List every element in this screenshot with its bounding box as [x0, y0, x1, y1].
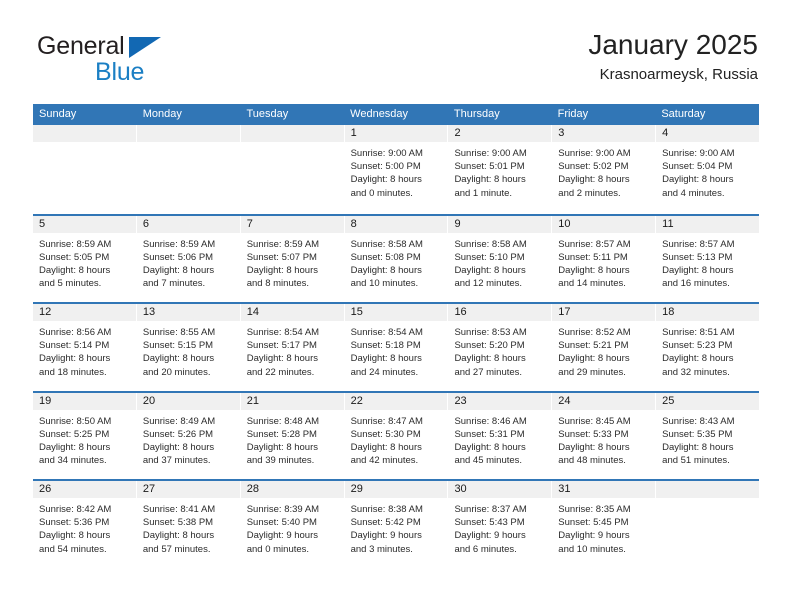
- daylight-text-line2: and 3 minutes.: [351, 543, 442, 556]
- daylight-text-line2: and 10 minutes.: [558, 543, 649, 556]
- day-details: Sunrise: 8:37 AMSunset: 5:43 PMDaylight:…: [448, 498, 551, 556]
- daylight-text-line2: and 2 minutes.: [558, 187, 649, 200]
- calendar-day-cell[interactable]: 23Sunrise: 8:46 AMSunset: 5:31 PMDayligh…: [448, 393, 552, 480]
- daylight-text-line2: and 57 minutes.: [143, 543, 234, 556]
- day-number: 3: [552, 125, 655, 142]
- daylight-text-line1: Daylight: 8 hours: [558, 352, 649, 365]
- weekday-header-wednesday: Wednesday: [344, 104, 448, 125]
- day-details: Sunrise: 8:54 AMSunset: 5:17 PMDaylight:…: [241, 321, 344, 379]
- day-details: Sunrise: 8:50 AMSunset: 5:25 PMDaylight:…: [33, 410, 136, 468]
- daylight-text-line1: Daylight: 8 hours: [558, 173, 649, 186]
- sunrise-text: Sunrise: 8:47 AM: [351, 415, 442, 428]
- sunset-text: Sunset: 5:31 PM: [454, 428, 545, 441]
- calendar-day-cell[interactable]: 27Sunrise: 8:41 AMSunset: 5:38 PMDayligh…: [137, 481, 241, 568]
- daylight-text-line2: and 0 minutes.: [351, 187, 442, 200]
- calendar-day-cell[interactable]: 25Sunrise: 8:43 AMSunset: 5:35 PMDayligh…: [656, 393, 759, 480]
- daylight-text-line2: and 24 minutes.: [351, 366, 442, 379]
- sunrise-text: Sunrise: 8:58 AM: [351, 238, 442, 251]
- daylight-text-line1: Daylight: 8 hours: [454, 352, 545, 365]
- day-details: Sunrise: 8:45 AMSunset: 5:33 PMDaylight:…: [552, 410, 655, 468]
- day-number: 1: [345, 125, 448, 142]
- calendar-day-cell[interactable]: 30Sunrise: 8:37 AMSunset: 5:43 PMDayligh…: [448, 481, 552, 568]
- daylight-text-line1: Daylight: 9 hours: [351, 529, 442, 542]
- calendar-day-cell[interactable]: 4Sunrise: 9:00 AMSunset: 5:04 PMDaylight…: [656, 125, 759, 214]
- sunrise-text: Sunrise: 9:00 AM: [662, 147, 753, 160]
- daylight-text-line2: and 45 minutes.: [454, 454, 545, 467]
- day-number: [656, 481, 759, 498]
- sunset-text: Sunset: 5:26 PM: [143, 428, 234, 441]
- day-details: Sunrise: 8:35 AMSunset: 5:45 PMDaylight:…: [552, 498, 655, 556]
- sunrise-text: Sunrise: 9:00 AM: [351, 147, 442, 160]
- day-number: 28: [241, 481, 344, 498]
- sunrise-text: Sunrise: 8:58 AM: [454, 238, 545, 251]
- sunrise-text: Sunrise: 8:50 AM: [39, 415, 130, 428]
- sunrise-text: Sunrise: 8:57 AM: [558, 238, 649, 251]
- day-number: [33, 125, 136, 142]
- daylight-text-line1: Daylight: 8 hours: [351, 173, 442, 186]
- sunrise-text: Sunrise: 8:59 AM: [247, 238, 338, 251]
- daylight-text-line2: and 22 minutes.: [247, 366, 338, 379]
- calendar-day-cell[interactable]: 31Sunrise: 8:35 AMSunset: 5:45 PMDayligh…: [552, 481, 656, 568]
- day-number: 24: [552, 393, 655, 410]
- daylight-text-line1: Daylight: 8 hours: [558, 264, 649, 277]
- title-block: January 2025 Krasnoarmeysk, Russia: [588, 28, 758, 86]
- calendar-day-cell[interactable]: 3Sunrise: 9:00 AMSunset: 5:02 PMDaylight…: [552, 125, 656, 214]
- calendar-day-cell[interactable]: 8Sunrise: 8:58 AMSunset: 5:08 PMDaylight…: [345, 216, 449, 303]
- day-number: 11: [656, 216, 759, 233]
- page-title: January 2025: [588, 28, 758, 62]
- sunset-text: Sunset: 5:13 PM: [662, 251, 753, 264]
- sunset-text: Sunset: 5:42 PM: [351, 516, 442, 529]
- day-details: Sunrise: 8:59 AMSunset: 5:06 PMDaylight:…: [137, 233, 240, 291]
- day-number: 12: [33, 304, 136, 321]
- sunrise-text: Sunrise: 8:53 AM: [454, 326, 545, 339]
- day-number: 20: [137, 393, 240, 410]
- day-number: 7: [241, 216, 344, 233]
- calendar-day-cell[interactable]: 22Sunrise: 8:47 AMSunset: 5:30 PMDayligh…: [345, 393, 449, 480]
- day-details: Sunrise: 8:39 AMSunset: 5:40 PMDaylight:…: [241, 498, 344, 556]
- sunset-text: Sunset: 5:08 PM: [351, 251, 442, 264]
- day-details: Sunrise: 8:58 AMSunset: 5:08 PMDaylight:…: [345, 233, 448, 291]
- day-number: 13: [137, 304, 240, 321]
- daylight-text-line2: and 51 minutes.: [662, 454, 753, 467]
- day-details: Sunrise: 8:43 AMSunset: 5:35 PMDaylight:…: [656, 410, 759, 468]
- sunrise-text: Sunrise: 9:00 AM: [558, 147, 649, 160]
- day-number: 30: [448, 481, 551, 498]
- sunset-text: Sunset: 5:30 PM: [351, 428, 442, 441]
- sunrise-text: Sunrise: 8:35 AM: [558, 503, 649, 516]
- sunset-text: Sunset: 5:14 PM: [39, 339, 130, 352]
- page-header: General Blue January 2025 Krasnoarmeysk,…: [33, 28, 758, 94]
- sunrise-text: Sunrise: 8:37 AM: [454, 503, 545, 516]
- calendar-week-row: 5Sunrise: 8:59 AMSunset: 5:05 PMDaylight…: [33, 214, 759, 303]
- day-number: 16: [448, 304, 551, 321]
- day-number: 19: [33, 393, 136, 410]
- weekday-header-monday: Monday: [137, 104, 241, 125]
- weekday-header-tuesday: Tuesday: [240, 104, 344, 125]
- sunrise-text: Sunrise: 8:41 AM: [143, 503, 234, 516]
- sunset-text: Sunset: 5:43 PM: [454, 516, 545, 529]
- calendar-day-cell[interactable]: 12Sunrise: 8:56 AMSunset: 5:14 PMDayligh…: [33, 304, 137, 391]
- calendar-day-cell[interactable]: 20Sunrise: 8:49 AMSunset: 5:26 PMDayligh…: [137, 393, 241, 480]
- day-number: 17: [552, 304, 655, 321]
- day-details: Sunrise: 9:00 AMSunset: 5:01 PMDaylight:…: [448, 142, 551, 200]
- calendar-day-cell-empty: [33, 125, 137, 214]
- sunset-text: Sunset: 5:06 PM: [143, 251, 234, 264]
- sunrise-text: Sunrise: 8:56 AM: [39, 326, 130, 339]
- daylight-text-line1: Daylight: 8 hours: [143, 352, 234, 365]
- day-details: Sunrise: 8:52 AMSunset: 5:21 PMDaylight:…: [552, 321, 655, 379]
- calendar-day-cell[interactable]: 6Sunrise: 8:59 AMSunset: 5:06 PMDaylight…: [137, 216, 241, 303]
- sunrise-text: Sunrise: 8:43 AM: [662, 415, 753, 428]
- sunrise-text: Sunrise: 8:42 AM: [39, 503, 130, 516]
- daylight-text-line1: Daylight: 8 hours: [247, 441, 338, 454]
- brand-logo[interactable]: General Blue: [33, 32, 253, 90]
- calendar-page: General Blue January 2025 Krasnoarmeysk,…: [0, 0, 792, 612]
- sunset-text: Sunset: 5:38 PM: [143, 516, 234, 529]
- sunrise-text: Sunrise: 8:55 AM: [143, 326, 234, 339]
- day-details: Sunrise: 9:00 AMSunset: 5:02 PMDaylight:…: [552, 142, 655, 200]
- day-number: 25: [656, 393, 759, 410]
- daylight-text-line2: and 54 minutes.: [39, 543, 130, 556]
- sunset-text: Sunset: 5:25 PM: [39, 428, 130, 441]
- sunset-text: Sunset: 5:21 PM: [558, 339, 649, 352]
- sunset-text: Sunset: 5:17 PM: [247, 339, 338, 352]
- calendar-day-cell[interactable]: 13Sunrise: 8:55 AMSunset: 5:15 PMDayligh…: [137, 304, 241, 391]
- sunset-text: Sunset: 5:23 PM: [662, 339, 753, 352]
- day-details: Sunrise: 9:00 AMSunset: 5:00 PMDaylight:…: [345, 142, 448, 200]
- day-details: Sunrise: 8:54 AMSunset: 5:18 PMDaylight:…: [345, 321, 448, 379]
- calendar-week-row: 26Sunrise: 8:42 AMSunset: 5:36 PMDayligh…: [33, 479, 759, 568]
- daylight-text-line2: and 12 minutes.: [454, 277, 545, 290]
- page-subtitle: Krasnoarmeysk, Russia: [588, 64, 758, 86]
- daylight-text-line1: Daylight: 9 hours: [454, 529, 545, 542]
- day-number: 26: [33, 481, 136, 498]
- sunrise-text: Sunrise: 9:00 AM: [454, 147, 545, 160]
- weekday-header-row: SundayMondayTuesdayWednesdayThursdayFrid…: [33, 104, 759, 125]
- day-number: 6: [137, 216, 240, 233]
- sunset-text: Sunset: 5:11 PM: [558, 251, 649, 264]
- daylight-text-line2: and 0 minutes.: [247, 543, 338, 556]
- sunrise-text: Sunrise: 8:51 AM: [662, 326, 753, 339]
- calendar-day-cell-empty: [241, 125, 345, 214]
- daylight-text-line2: and 48 minutes.: [558, 454, 649, 467]
- sunset-text: Sunset: 5:45 PM: [558, 516, 649, 529]
- weekday-header-saturday: Saturday: [655, 104, 759, 125]
- daylight-text-line1: Daylight: 8 hours: [39, 441, 130, 454]
- daylight-text-line1: Daylight: 8 hours: [454, 173, 545, 186]
- day-details: Sunrise: 8:49 AMSunset: 5:26 PMDaylight:…: [137, 410, 240, 468]
- calendar-day-cell-empty: [656, 481, 759, 568]
- daylight-text-line1: Daylight: 8 hours: [39, 264, 130, 277]
- calendar-day-cell[interactable]: 28Sunrise: 8:39 AMSunset: 5:40 PMDayligh…: [241, 481, 345, 568]
- daylight-text-line2: and 42 minutes.: [351, 454, 442, 467]
- daylight-text-line2: and 1 minute.: [454, 187, 545, 200]
- brand-name-general: General: [37, 32, 125, 61]
- daylight-text-line1: Daylight: 8 hours: [351, 264, 442, 277]
- calendar-day-cell[interactable]: 1Sunrise: 9:00 AMSunset: 5:00 PMDaylight…: [345, 125, 449, 214]
- calendar-week-row: 12Sunrise: 8:56 AMSunset: 5:14 PMDayligh…: [33, 302, 759, 391]
- daylight-text-line1: Daylight: 8 hours: [454, 264, 545, 277]
- weekday-header-sunday: Sunday: [33, 104, 137, 125]
- sunrise-text: Sunrise: 8:54 AM: [247, 326, 338, 339]
- sunrise-text: Sunrise: 8:59 AM: [143, 238, 234, 251]
- day-details: Sunrise: 8:57 AMSunset: 5:13 PMDaylight:…: [656, 233, 759, 291]
- daylight-text-line2: and 5 minutes.: [39, 277, 130, 290]
- day-number: 4: [656, 125, 759, 142]
- sunrise-text: Sunrise: 8:52 AM: [558, 326, 649, 339]
- calendar-day-cell-empty: [137, 125, 241, 214]
- daylight-text-line2: and 10 minutes.: [351, 277, 442, 290]
- sunset-text: Sunset: 5:28 PM: [247, 428, 338, 441]
- day-number: 23: [448, 393, 551, 410]
- calendar-day-cell[interactable]: 17Sunrise: 8:52 AMSunset: 5:21 PMDayligh…: [552, 304, 656, 391]
- day-number: 27: [137, 481, 240, 498]
- daylight-text-line1: Daylight: 8 hours: [247, 352, 338, 365]
- sunset-text: Sunset: 5:20 PM: [454, 339, 545, 352]
- daylight-text-line2: and 27 minutes.: [454, 366, 545, 379]
- daylight-text-line1: Daylight: 8 hours: [662, 352, 753, 365]
- daylight-text-line1: Daylight: 8 hours: [351, 441, 442, 454]
- daylight-text-line1: Daylight: 8 hours: [143, 441, 234, 454]
- day-details: Sunrise: 8:57 AMSunset: 5:11 PMDaylight:…: [552, 233, 655, 291]
- calendar-week-row: 19Sunrise: 8:50 AMSunset: 5:25 PMDayligh…: [33, 391, 759, 480]
- day-details: Sunrise: 8:41 AMSunset: 5:38 PMDaylight:…: [137, 498, 240, 556]
- sunrise-text: Sunrise: 8:39 AM: [247, 503, 338, 516]
- day-details: Sunrise: 8:51 AMSunset: 5:23 PMDaylight:…: [656, 321, 759, 379]
- sunset-text: Sunset: 5:15 PM: [143, 339, 234, 352]
- daylight-text-line1: Daylight: 8 hours: [247, 264, 338, 277]
- sunset-text: Sunset: 5:36 PM: [39, 516, 130, 529]
- day-details: Sunrise: 8:47 AMSunset: 5:30 PMDaylight:…: [345, 410, 448, 468]
- sunset-text: Sunset: 5:00 PM: [351, 160, 442, 173]
- calendar-day-cell[interactable]: 14Sunrise: 8:54 AMSunset: 5:17 PMDayligh…: [241, 304, 345, 391]
- daylight-text-line1: Daylight: 8 hours: [662, 264, 753, 277]
- day-number: 10: [552, 216, 655, 233]
- day-details: Sunrise: 8:56 AMSunset: 5:14 PMDaylight:…: [33, 321, 136, 379]
- calendar-weeks: 1Sunrise: 9:00 AMSunset: 5:00 PMDaylight…: [33, 125, 759, 568]
- day-number: 21: [241, 393, 344, 410]
- day-number: 22: [345, 393, 448, 410]
- sunrise-text: Sunrise: 8:45 AM: [558, 415, 649, 428]
- daylight-text-line2: and 16 minutes.: [662, 277, 753, 290]
- daylight-text-line2: and 39 minutes.: [247, 454, 338, 467]
- daylight-text-line2: and 7 minutes.: [143, 277, 234, 290]
- daylight-text-line1: Daylight: 9 hours: [558, 529, 649, 542]
- day-number: 9: [448, 216, 551, 233]
- day-details: Sunrise: 8:55 AMSunset: 5:15 PMDaylight:…: [137, 321, 240, 379]
- sunrise-text: Sunrise: 8:57 AM: [662, 238, 753, 251]
- calendar-day-cell[interactable]: 11Sunrise: 8:57 AMSunset: 5:13 PMDayligh…: [656, 216, 759, 303]
- daylight-text-line1: Daylight: 8 hours: [39, 529, 130, 542]
- sunrise-text: Sunrise: 8:54 AM: [351, 326, 442, 339]
- day-details: Sunrise: 8:58 AMSunset: 5:10 PMDaylight:…: [448, 233, 551, 291]
- calendar-day-cell[interactable]: 26Sunrise: 8:42 AMSunset: 5:36 PMDayligh…: [33, 481, 137, 568]
- day-details: Sunrise: 8:46 AMSunset: 5:31 PMDaylight:…: [448, 410, 551, 468]
- sunrise-text: Sunrise: 8:38 AM: [351, 503, 442, 516]
- day-details: Sunrise: 8:48 AMSunset: 5:28 PMDaylight:…: [241, 410, 344, 468]
- daylight-text-line1: Daylight: 8 hours: [662, 173, 753, 186]
- calendar-day-cell[interactable]: 21Sunrise: 8:48 AMSunset: 5:28 PMDayligh…: [241, 393, 345, 480]
- day-number: 15: [345, 304, 448, 321]
- calendar-day-cell[interactable]: 18Sunrise: 8:51 AMSunset: 5:23 PMDayligh…: [656, 304, 759, 391]
- day-details: Sunrise: 8:42 AMSunset: 5:36 PMDaylight:…: [33, 498, 136, 556]
- sunset-text: Sunset: 5:18 PM: [351, 339, 442, 352]
- brand-name-blue: Blue: [95, 58, 144, 87]
- sunset-text: Sunset: 5:04 PM: [662, 160, 753, 173]
- sunset-text: Sunset: 5:05 PM: [39, 251, 130, 264]
- daylight-text-line2: and 6 minutes.: [454, 543, 545, 556]
- sunrise-text: Sunrise: 8:49 AM: [143, 415, 234, 428]
- day-number: 2: [448, 125, 551, 142]
- day-number: 18: [656, 304, 759, 321]
- sunrise-text: Sunrise: 8:46 AM: [454, 415, 545, 428]
- calendar-day-cell[interactable]: 15Sunrise: 8:54 AMSunset: 5:18 PMDayligh…: [345, 304, 449, 391]
- daylight-text-line2: and 32 minutes.: [662, 366, 753, 379]
- day-number: 8: [345, 216, 448, 233]
- calendar-day-cell[interactable]: 19Sunrise: 8:50 AMSunset: 5:25 PMDayligh…: [33, 393, 137, 480]
- daylight-text-line1: Daylight: 8 hours: [351, 352, 442, 365]
- sunrise-text: Sunrise: 8:59 AM: [39, 238, 130, 251]
- calendar-day-cell[interactable]: 16Sunrise: 8:53 AMSunset: 5:20 PMDayligh…: [448, 304, 552, 391]
- calendar-day-cell[interactable]: 24Sunrise: 8:45 AMSunset: 5:33 PMDayligh…: [552, 393, 656, 480]
- sunrise-text: Sunrise: 8:48 AM: [247, 415, 338, 428]
- sunset-text: Sunset: 5:33 PM: [558, 428, 649, 441]
- daylight-text-line2: and 4 minutes.: [662, 187, 753, 200]
- daylight-text-line2: and 18 minutes.: [39, 366, 130, 379]
- sunset-text: Sunset: 5:10 PM: [454, 251, 545, 264]
- daylight-text-line2: and 34 minutes.: [39, 454, 130, 467]
- daylight-text-line1: Daylight: 8 hours: [662, 441, 753, 454]
- calendar-grid: SundayMondayTuesdayWednesdayThursdayFrid…: [33, 104, 759, 568]
- day-number: 14: [241, 304, 344, 321]
- day-number: 5: [33, 216, 136, 233]
- day-number: [137, 125, 240, 142]
- calendar-day-cell[interactable]: 7Sunrise: 8:59 AMSunset: 5:07 PMDaylight…: [241, 216, 345, 303]
- day-details: Sunrise: 8:38 AMSunset: 5:42 PMDaylight:…: [345, 498, 448, 556]
- weekday-header-friday: Friday: [552, 104, 656, 125]
- daylight-text-line1: Daylight: 8 hours: [39, 352, 130, 365]
- daylight-text-line1: Daylight: 8 hours: [558, 441, 649, 454]
- sunset-text: Sunset: 5:07 PM: [247, 251, 338, 264]
- calendar-week-row: 1Sunrise: 9:00 AMSunset: 5:00 PMDaylight…: [33, 125, 759, 214]
- calendar-day-cell[interactable]: 2Sunrise: 9:00 AMSunset: 5:01 PMDaylight…: [448, 125, 552, 214]
- sunset-text: Sunset: 5:01 PM: [454, 160, 545, 173]
- calendar-day-cell[interactable]: 9Sunrise: 8:58 AMSunset: 5:10 PMDaylight…: [448, 216, 552, 303]
- day-number: 29: [345, 481, 448, 498]
- sunset-text: Sunset: 5:02 PM: [558, 160, 649, 173]
- sunset-text: Sunset: 5:40 PM: [247, 516, 338, 529]
- day-number: 31: [552, 481, 655, 498]
- day-number: [241, 125, 344, 142]
- daylight-text-line2: and 29 minutes.: [558, 366, 649, 379]
- day-details: Sunrise: 8:59 AMSunset: 5:07 PMDaylight:…: [241, 233, 344, 291]
- day-details: Sunrise: 9:00 AMSunset: 5:04 PMDaylight:…: [656, 142, 759, 200]
- daylight-text-line1: Daylight: 8 hours: [143, 529, 234, 542]
- day-details: Sunrise: 8:59 AMSunset: 5:05 PMDaylight:…: [33, 233, 136, 291]
- calendar-day-cell[interactable]: 29Sunrise: 8:38 AMSunset: 5:42 PMDayligh…: [345, 481, 449, 568]
- daylight-text-line1: Daylight: 8 hours: [454, 441, 545, 454]
- daylight-text-line2: and 8 minutes.: [247, 277, 338, 290]
- daylight-text-line1: Daylight: 9 hours: [247, 529, 338, 542]
- weekday-header-thursday: Thursday: [448, 104, 552, 125]
- calendar-day-cell[interactable]: 5Sunrise: 8:59 AMSunset: 5:05 PMDaylight…: [33, 216, 137, 303]
- day-details: Sunrise: 8:53 AMSunset: 5:20 PMDaylight:…: [448, 321, 551, 379]
- sunset-text: Sunset: 5:35 PM: [662, 428, 753, 441]
- calendar-day-cell[interactable]: 10Sunrise: 8:57 AMSunset: 5:11 PMDayligh…: [552, 216, 656, 303]
- daylight-text-line2: and 20 minutes.: [143, 366, 234, 379]
- daylight-text-line2: and 37 minutes.: [143, 454, 234, 467]
- daylight-text-line2: and 14 minutes.: [558, 277, 649, 290]
- triangle-flag-icon: [129, 37, 161, 58]
- daylight-text-line1: Daylight: 8 hours: [143, 264, 234, 277]
